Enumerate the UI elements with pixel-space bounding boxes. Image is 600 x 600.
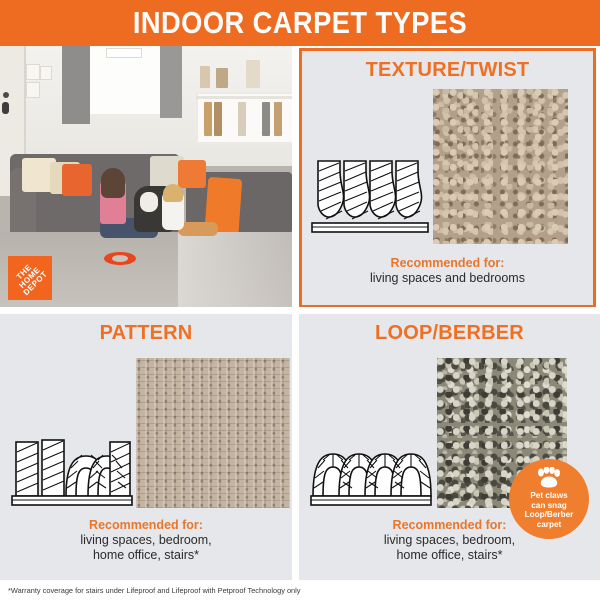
recommended-pattern: Recommended for: living spaces, bedroom,… [0,518,292,563]
photo-dog-face [140,192,158,212]
recommended-label: Recommended for: [302,256,593,271]
page-title: INDOOR CARPET TYPES [36,0,564,46]
badge-line-3: Loop/Berber [525,510,574,519]
panel-title-texture-twist: TEXTURE/TWIST [302,59,593,82]
photo-shelf-decor [262,102,270,136]
badge-line-1: Pet claws [530,491,567,500]
photo-dog-toy-center [112,255,128,262]
infographic: INDOOR CARPET TYPES [0,0,600,600]
pet-warning-badge: Pet claws can snag Loop/Berber carpet [509,459,589,539]
photo-floor-blanket [178,222,218,236]
photo-window-sash [106,48,142,58]
recommended-texture-twist: Recommended for: living spaces and bedro… [302,256,593,286]
photo-wall-art [26,82,40,98]
lifestyle-photo: THE HOME DEPOT [0,46,292,307]
photo-sunlight [178,232,292,307]
recommended-line: living spaces and bedrooms [302,271,593,286]
photo-shelf-decor [238,102,246,136]
photo-curtain-left [62,46,90,124]
badge-line-2: can snag [531,501,567,510]
pet-warning-text: Pet claws can snag Loop/Berber carpet [525,491,574,529]
photo-pillow [178,160,206,188]
photo-shelf-decor [246,60,260,88]
photo-door-lock [3,92,9,98]
photo-wall-art [40,66,52,80]
photo-shelf-decor [200,66,210,88]
photo-pillow [62,164,92,196]
home-depot-logo-inner: THE HOME DEPOT [8,256,52,300]
recommended-line: home office, stairs* [0,548,292,563]
recommended-line: living spaces, bedroom, [0,533,292,548]
pattern-pile-diagram [10,438,134,516]
footnote: *Warranty coverage for stairs under Life… [8,586,301,595]
photo-shelf-decor [274,102,282,136]
photo-woman-hair [101,168,125,198]
recommended-label: Recommended for: [0,518,292,533]
badge-line-4: carpet [537,520,562,529]
photo-curtain-right [160,46,182,118]
photo-child-hair [163,184,183,202]
panel-title-pattern: PATTERN [0,322,292,345]
photo-shelf-decor [214,102,222,136]
paw-print-icon [536,467,562,489]
texture-twist-carpet-swatch [433,89,568,244]
pattern-carpet-swatch [136,358,290,508]
panel-loop-berber: LOOP/BERBER Recommend [299,314,600,580]
recommended-line: home office, stairs* [299,548,600,563]
home-depot-logo: THE HOME DEPOT [8,256,52,300]
panel-pattern: PATTERN Recommended f [0,314,292,580]
photo-shelf-decor [204,102,212,136]
home-depot-logo-text: THE HOME DEPOT [11,259,49,297]
photo-shelf-decor [216,68,228,88]
photo-wall-art [26,64,40,80]
photo-door-handle [2,102,9,114]
header-bar: INDOOR CARPET TYPES [0,0,600,46]
row-gutter [0,307,600,314]
loop-berber-pile-diagram [309,438,433,516]
panel-title-loop-berber: LOOP/BERBER [299,322,600,345]
panel-texture-twist: TEXTURE/TWIST Recommended for: living sp… [299,48,596,308]
photo-shelf-divider [196,96,292,99]
texture-twist-pile-diagram [310,149,432,245]
